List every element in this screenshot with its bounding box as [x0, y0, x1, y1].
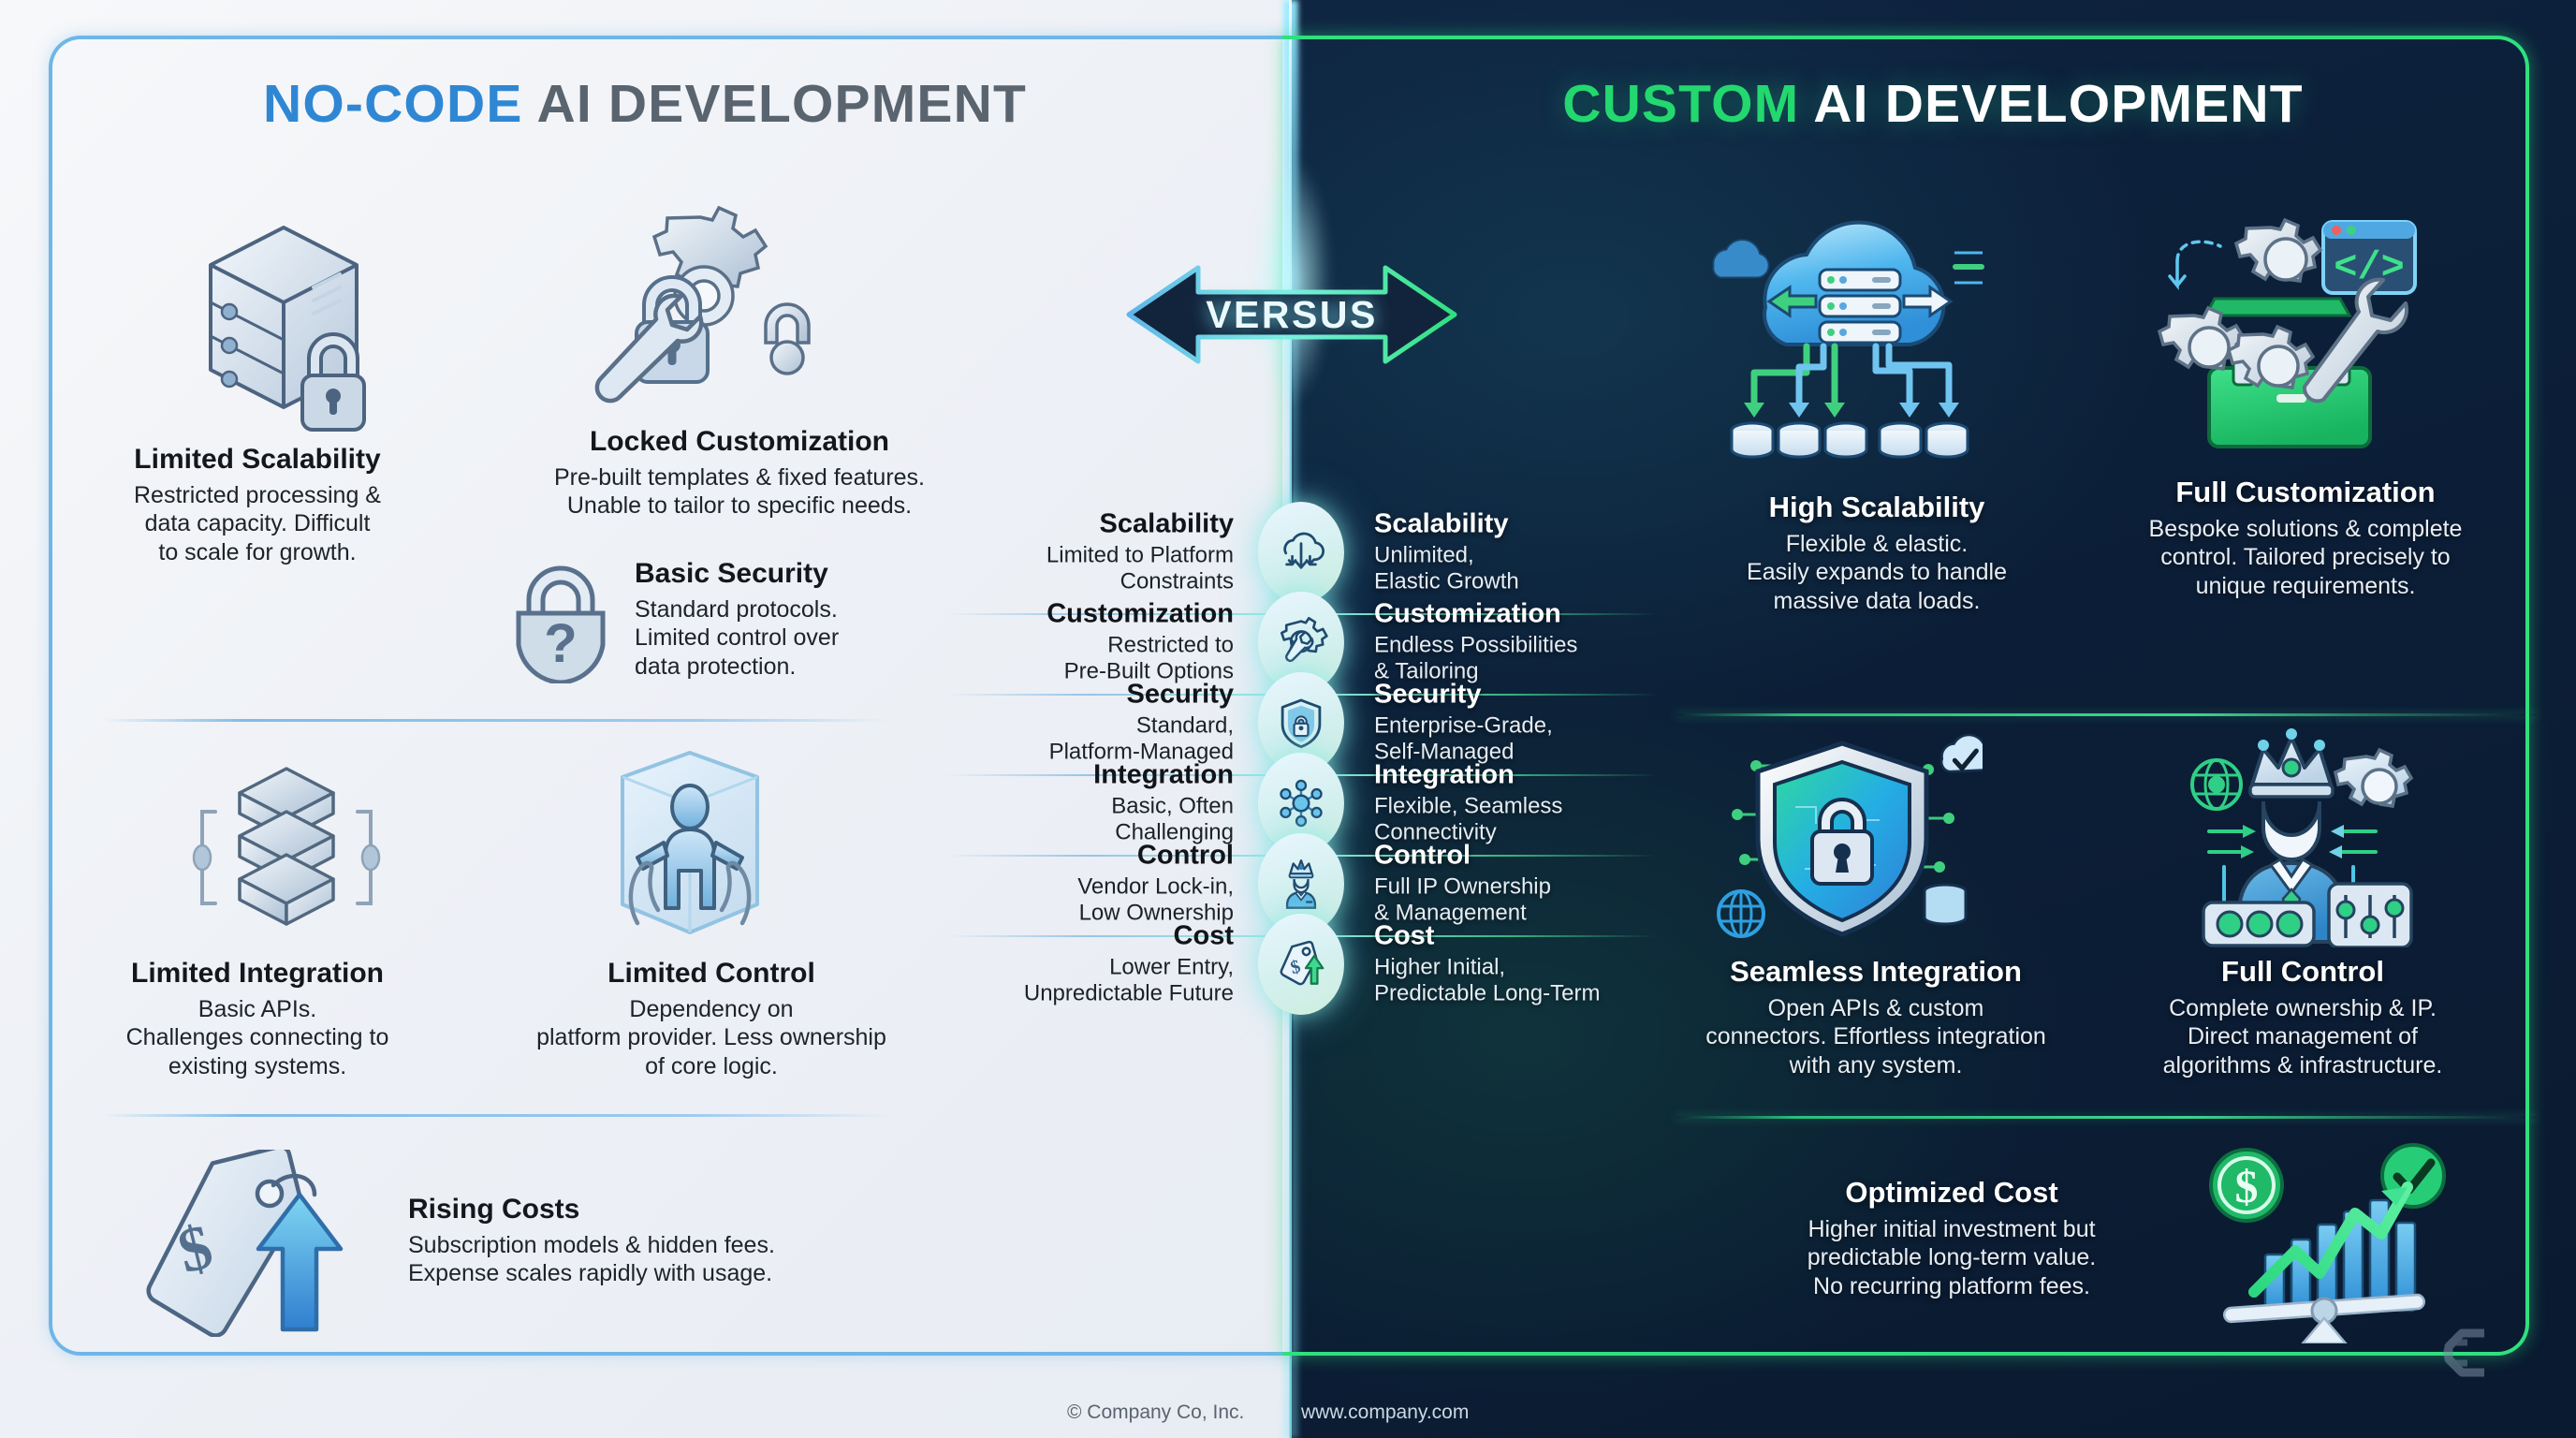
card-title: Optimized Cost — [1713, 1176, 2190, 1210]
comparison-right-label: Customization Endless Possibilities& Tai… — [1374, 599, 1758, 684]
toolbox-gears-wrench-code-icon: </> — [2153, 201, 2424, 454]
card-body: Dependency onplatform provider. Less own… — [468, 995, 955, 1081]
left-divider-2 — [103, 1114, 889, 1117]
row-sub-right: Higher Initial,Predictable Long-Term — [1374, 954, 1758, 1006]
left-card-limited-control: Limited Control Dependency onplatform pr… — [468, 958, 955, 1080]
right-title-rest: AI DEVELOPMENT — [1813, 74, 2304, 134]
comparison-left-label: Control Vendor Lock-in,Low Ownership — [887, 841, 1234, 926]
price-tag-up-arrow-icon: $ — [131, 1150, 351, 1337]
left-card-limited-integration: Limited Integration Basic APIs.Challenge… — [75, 958, 440, 1080]
row-title-right: Control — [1374, 841, 1758, 871]
row-sub-right: Unlimited,Elastic Growth — [1374, 542, 1758, 594]
comparison-right-label: Security Enterprise-Grade,Self-Managed — [1374, 680, 1758, 765]
gear-padlock-wrench-icon — [592, 197, 826, 412]
comparison-right-label: Integration Flexible, SeamlessConnectivi… — [1374, 760, 1758, 845]
stacked-servers-brackets-icon — [178, 744, 393, 946]
hexagon-c-logo — [2426, 1313, 2507, 1393]
growth-chart-dollar-check-icon: $ — [2198, 1142, 2451, 1343]
svg-text:$: $ — [2235, 1160, 2259, 1212]
footer-website: www.company.com — [1301, 1401, 1469, 1424]
row-title-right: Customization — [1374, 599, 1758, 629]
card-title: Locked Customization — [496, 426, 983, 459]
card-body: Complete ownership & IP.Direct managemen… — [2097, 994, 2509, 1080]
row-sub-left: Lower Entry,Unpredictable Future — [887, 954, 1234, 1006]
card-title: Limited Scalability — [75, 444, 440, 477]
card-title: Rising Costs — [408, 1194, 932, 1226]
right-card-full-control: Full Control Complete ownership & IP.Dir… — [2097, 955, 2509, 1079]
right-card-full-customization: Full Customization Bespoke solutions & c… — [2095, 476, 2516, 600]
card-body: Restricted processing &data capacity. Di… — [75, 481, 440, 567]
versus-label: VERSUS — [1039, 255, 1544, 374]
right-panel-title: CUSTOM AI DEVELOPMENT — [1290, 73, 2576, 135]
comparison-left-label: Integration Basic, OftenChallenging — [887, 760, 1234, 845]
card-body: Basic APIs.Challenges connecting toexist… — [75, 995, 440, 1081]
right-title-accent: CUSTOM — [1562, 74, 1813, 134]
row-title-left: Customization — [887, 599, 1234, 629]
server-rack-lock-icon — [173, 211, 398, 440]
card-title: Limited Control — [468, 958, 955, 990]
right-card-optimized-cost: Optimized Cost Higher initial investment… — [1713, 1176, 2190, 1300]
comparison-row-scalability: Scalability Limited to PlatformConstrain… — [936, 506, 1666, 599]
row-title-right: Integration — [1374, 760, 1758, 790]
person-in-ice-cube-icon — [585, 740, 791, 950]
left-card-rising-costs: Rising Costs Subscription models & hidde… — [408, 1194, 932, 1288]
crowned-person-controls-icon — [2151, 723, 2418, 947]
left-title-rest: AI DEVELOPMENT — [536, 74, 1027, 134]
padlock-question-icon: ? — [505, 538, 616, 683]
price-tag-arrow-icon: $ — [1258, 914, 1344, 1015]
left-panel-title: NO-CODE AI DEVELOPMENT — [0, 73, 1290, 135]
row-sub-left: Limited to PlatformConstraints — [887, 542, 1234, 594]
cloud-scalability-icon — [1258, 502, 1344, 603]
card-body: Higher initial investment butpredictable… — [1713, 1215, 2190, 1301]
row-title-right: Scalability — [1374, 509, 1758, 539]
row-title-left: Security — [887, 680, 1234, 710]
row-title-right: Security — [1374, 680, 1758, 710]
infographic-stage: NO-CODE AI DEVELOPMENT CUSTOM AI DEVELOP… — [0, 0, 2576, 1438]
right-divider-1 — [1676, 713, 2537, 716]
cloud-servers-databases-icon — [1692, 197, 1992, 459]
comparison-left-label: Scalability Limited to PlatformConstrain… — [887, 509, 1234, 594]
row-title-right: Cost — [1374, 921, 1758, 951]
comparison-left-label: Cost Lower Entry,Unpredictable Future — [887, 921, 1234, 1006]
row-title-left: Scalability — [887, 509, 1234, 539]
left-card-locked-customization: Locked Customization Pre-built templates… — [496, 426, 983, 521]
comparison-right-label: Control Full IP Ownership& Management — [1374, 841, 1758, 926]
left-title-accent: NO-CODE — [263, 74, 537, 134]
card-title: Limited Integration — [75, 958, 440, 990]
comparison-left-label: Security Standard,Platform-Managed — [887, 680, 1234, 765]
svg-text:?: ? — [544, 613, 577, 674]
card-body: Bespoke solutions & completecontrol. Tai… — [2095, 515, 2516, 601]
versus-badge: VERSUS — [1039, 255, 1544, 374]
comparison-left-label: Customization Restricted toPre-Built Opt… — [887, 599, 1234, 684]
row-title-left: Integration — [887, 760, 1234, 790]
right-divider-2 — [1676, 1116, 2537, 1119]
card-body: Subscription models & hidden fees.Expens… — [408, 1231, 932, 1288]
card-title: Full Control — [2097, 955, 2509, 989]
comparison-right-label: Cost Higher Initial,Predictable Long-Ter… — [1374, 921, 1758, 1006]
comparison-row-cost: Cost Lower Entry,Unpredictable Future $ … — [936, 917, 1666, 1011]
comparison-right-label: Scalability Unlimited,Elastic Growth — [1374, 509, 1758, 594]
left-divider-1 — [103, 719, 889, 722]
row-title-left: Cost — [887, 921, 1234, 951]
left-card-limited-scalability: Limited Scalability Restricted processin… — [75, 444, 440, 566]
row-title-left: Control — [887, 841, 1234, 871]
footer-copyright: © Company Co, Inc. — [1067, 1401, 1244, 1424]
card-title: Full Customization — [2095, 476, 2516, 509]
